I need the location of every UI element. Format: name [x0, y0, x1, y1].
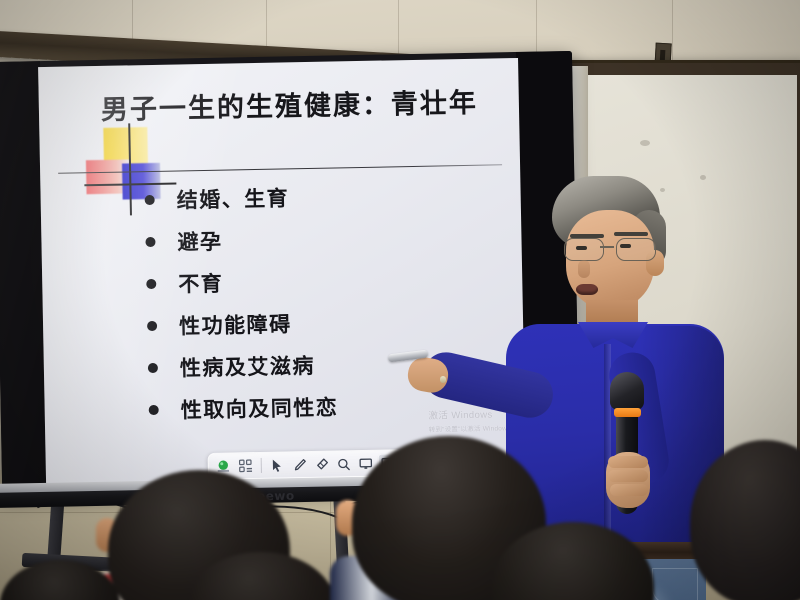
- microphone-head: [610, 372, 644, 410]
- speaker-nose: [578, 260, 590, 278]
- interactive-flat-panel[interactable]: 男子一生的生殖健康：青壮年 结婚、生育 避孕 不育 性功能障碍: [0, 51, 580, 494]
- finger-ring: [440, 376, 446, 383]
- microphone-accent-ring: [614, 408, 641, 417]
- speaker-mouth: [576, 284, 598, 295]
- lecture-photo-scene: 男子一生的生殖健康：青壮年 结婚、生育 避孕 不育 性功能障碍: [0, 0, 800, 600]
